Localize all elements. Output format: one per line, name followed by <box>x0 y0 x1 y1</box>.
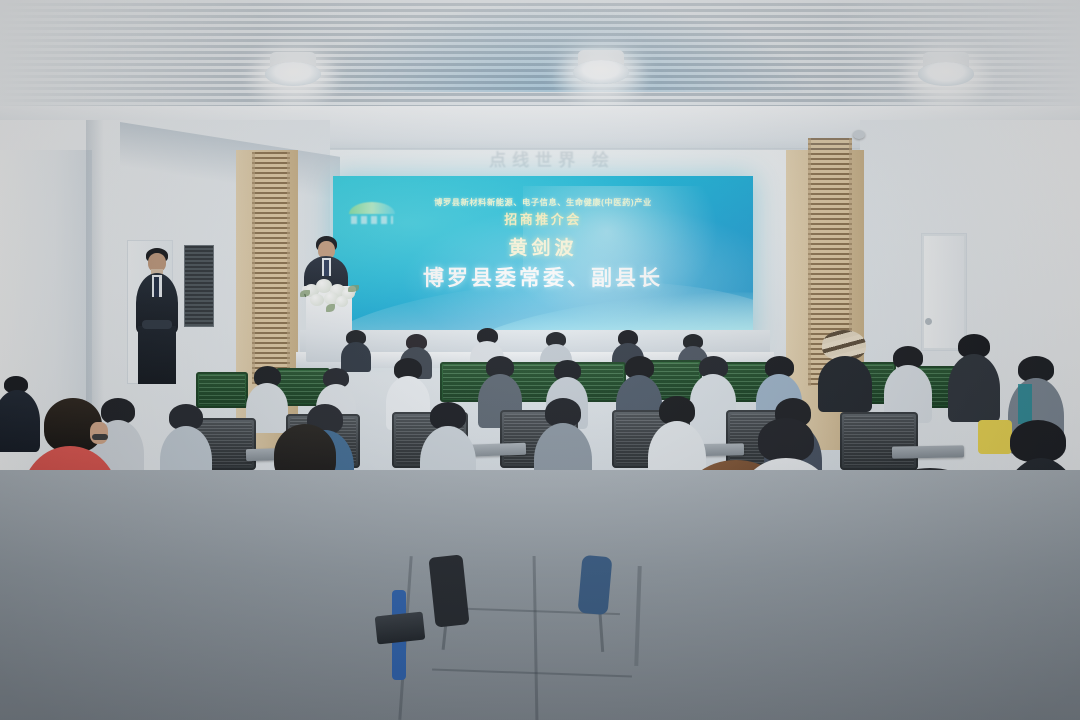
downlight-icon <box>918 52 974 86</box>
screen-headline: 招商推介会 <box>333 209 753 228</box>
screen-speaker-name: 黄剑波 <box>333 233 753 260</box>
audience-member <box>341 330 371 370</box>
right-wall-door[interactable] <box>922 234 966 350</box>
ceiling-camera-icon <box>853 130 865 139</box>
bag <box>428 554 469 627</box>
standing-staff-in-dark-suit <box>130 248 184 388</box>
audience-member <box>884 346 932 422</box>
audience-member <box>948 334 1000 420</box>
wall-vent-grille <box>184 245 214 327</box>
wood-slats-left <box>252 152 290 384</box>
laptop <box>375 612 426 645</box>
chair[interactable] <box>840 412 918 470</box>
chair[interactable] <box>196 372 248 408</box>
screen-speaker-title: 博罗县委常委、副县长 <box>333 262 753 292</box>
podium-flower-arrangement <box>300 276 362 310</box>
downlight-icon <box>265 52 321 86</box>
conference-room-photo: 点线世界 绘 博罗县新材料新能源、电子信息、生命健康(中医药)产业 招商推介会 … <box>0 0 1080 720</box>
eyeglasses-icon <box>92 434 108 440</box>
wall-lettering: 点线世界 绘 <box>412 146 692 171</box>
downlight-icon <box>573 50 629 84</box>
led-presentation-screen: 博罗县新材料新能源、电子信息、生命健康(中医药)产业 招商推介会 黄剑波 博罗县… <box>333 176 753 344</box>
screen-subtitle-line: 博罗县新材料新能源、电子信息、生命健康(中医药)产业 <box>333 196 753 208</box>
audience-member-with-hat <box>818 330 872 414</box>
door-handle-icon[interactable] <box>925 318 932 325</box>
floor <box>0 470 1080 720</box>
bag <box>578 555 613 615</box>
teal-accent <box>1018 384 1032 424</box>
chair-writing-tablet <box>892 445 964 458</box>
